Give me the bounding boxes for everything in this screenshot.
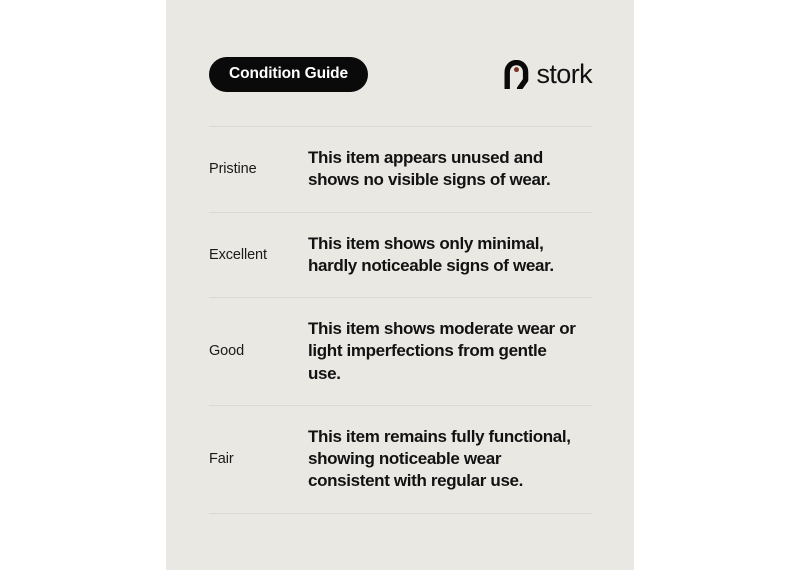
condition-label: Fair xyxy=(209,405,308,513)
condition-description-line: This item shows moderate wear or xyxy=(308,318,592,340)
condition-description: This item shows moderate wear or light i… xyxy=(308,298,592,406)
panel-header: Condition Guide stork xyxy=(209,56,592,92)
table-row: Excellent This item shows only minimal, … xyxy=(209,212,592,298)
condition-label: Good xyxy=(209,298,308,406)
condition-label: Excellent xyxy=(209,212,308,298)
condition-guide-table: Pristine This item appears unused and sh… xyxy=(209,126,592,514)
brand-wordmark: stork xyxy=(536,61,592,88)
condition-description-line: This item remains fully functional, xyxy=(308,426,592,448)
page-root: Condition Guide stork Pristine This item… xyxy=(0,0,800,570)
stork-arch-logo-icon xyxy=(504,60,529,89)
condition-description: This item remains fully functional, show… xyxy=(308,405,592,513)
condition-description-line: hardly noticeable signs of wear. xyxy=(308,255,592,277)
condition-guide-panel: Condition Guide stork Pristine This item… xyxy=(166,0,634,570)
condition-description-line: showing noticeable wear xyxy=(308,448,592,470)
condition-guide-table-body: Pristine This item appears unused and sh… xyxy=(209,127,592,514)
condition-description-line: This item shows only minimal, xyxy=(308,233,592,255)
condition-description-line: This item appears unused and xyxy=(308,147,592,169)
condition-description: This item shows only minimal, hardly not… xyxy=(308,212,592,298)
condition-description-line: shows no visible signs of wear. xyxy=(308,169,592,191)
condition-description-line: consistent with regular use. xyxy=(308,470,592,492)
table-row: Pristine This item appears unused and sh… xyxy=(209,127,592,213)
brand-lockup: stork xyxy=(504,60,592,89)
condition-description-line: light imperfections from gentle xyxy=(308,340,592,362)
condition-description: This item appears unused and shows no vi… xyxy=(308,127,592,213)
condition-description-line: use. xyxy=(308,363,592,385)
condition-guide-badge: Condition Guide xyxy=(209,57,368,92)
condition-label: Pristine xyxy=(209,127,308,213)
table-row: Good This item shows moderate wear or li… xyxy=(209,298,592,406)
table-row: Fair This item remains fully functional,… xyxy=(209,405,592,513)
